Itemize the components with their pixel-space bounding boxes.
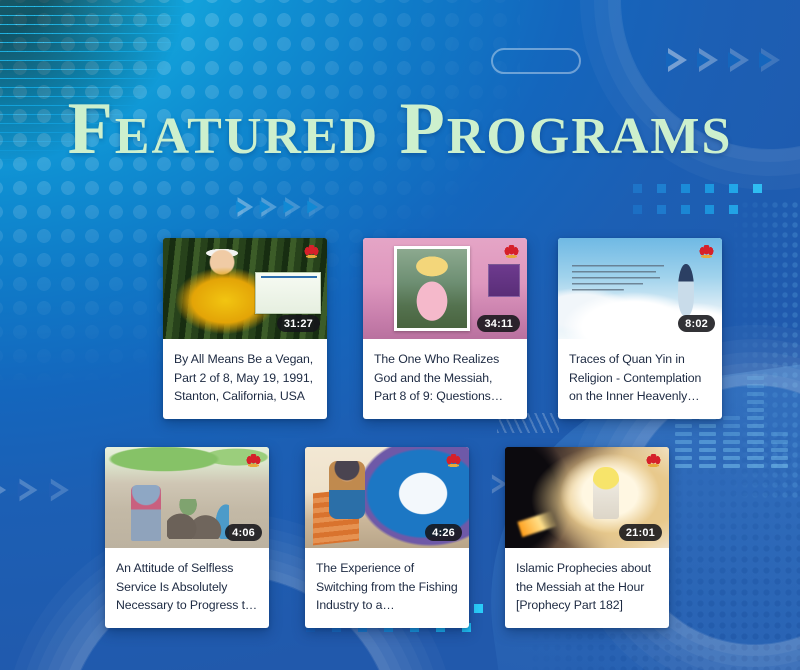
program-thumbnail[interactable]: 31:27 <box>163 238 327 339</box>
supreme-master-tv-logo-icon <box>644 452 663 469</box>
supreme-master-tv-logo-icon <box>302 243 321 260</box>
duration-badge: 31:27 <box>277 315 320 332</box>
program-thumbnail[interactable]: 21:01 <box>505 447 669 548</box>
program-thumbnail[interactable]: 4:06 <box>105 447 269 548</box>
supreme-master-tv-logo-icon <box>244 452 263 469</box>
duration-badge: 8:02 <box>678 315 715 332</box>
featured-programs-banner: Featured Programs 31:27By All Means Be a… <box>0 0 800 670</box>
lotus-icon <box>446 454 461 468</box>
program-card-grid: 31:27By All Means Be a Vegan, Part 2 of … <box>0 0 800 670</box>
program-card[interactable]: 4:26The Experience of Switching from the… <box>305 447 469 628</box>
program-title: The Experience of Switching from the Fis… <box>305 548 469 628</box>
program-thumbnail[interactable]: 4:26 <box>305 447 469 548</box>
lotus-icon <box>246 454 261 468</box>
supreme-master-tv-logo-icon <box>697 243 716 260</box>
duration-badge: 4:26 <box>425 524 462 541</box>
duration-badge: 4:06 <box>225 524 262 541</box>
program-title: Traces of Quan Yin in Religion - Contemp… <box>558 339 722 419</box>
program-card[interactable]: 21:01Islamic Prophecies about the Messia… <box>505 447 669 628</box>
program-title: An Attitude of Selfless Service Is Absol… <box>105 548 269 628</box>
program-thumbnail[interactable]: 34:11 <box>363 238 527 339</box>
program-card[interactable]: 31:27By All Means Be a Vegan, Part 2 of … <box>163 238 327 419</box>
duration-badge: 21:01 <box>619 524 662 541</box>
lotus-icon <box>504 245 519 259</box>
program-thumbnail[interactable]: 8:02 <box>558 238 722 339</box>
program-title: By All Means Be a Vegan, Part 2 of 8, Ma… <box>163 339 327 419</box>
supreme-master-tv-logo-icon <box>444 452 463 469</box>
lotus-icon <box>699 245 714 259</box>
program-card[interactable]: 4:06An Attitude of Selfless Service Is A… <box>105 447 269 628</box>
lotus-icon <box>646 454 661 468</box>
supreme-master-tv-logo-icon <box>502 243 521 260</box>
program-title: Islamic Prophecies about the Messiah at … <box>505 548 669 628</box>
duration-badge: 34:11 <box>477 315 520 332</box>
program-title: The One Who Realizes God and the Messiah… <box>363 339 527 419</box>
lotus-icon <box>304 245 319 259</box>
program-card[interactable]: 34:11The One Who Realizes God and the Me… <box>363 238 527 419</box>
program-card[interactable]: 8:02Traces of Quan Yin in Religion - Con… <box>558 238 722 419</box>
